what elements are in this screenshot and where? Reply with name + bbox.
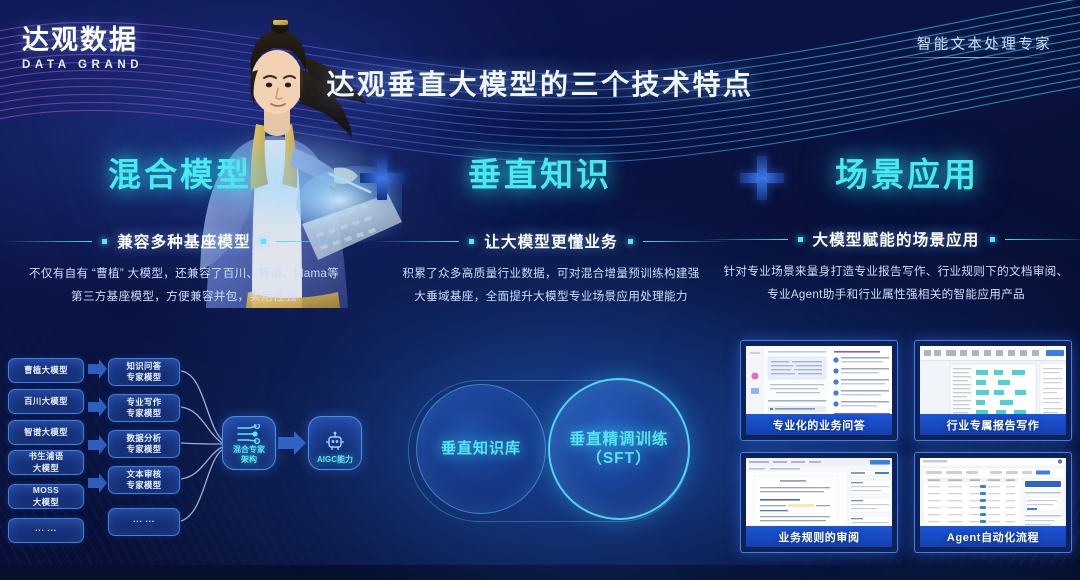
base-model-chip[interactable]: ··· ··· <box>8 518 84 543</box>
use-case-card-label: 行业专属报告写作 <box>920 414 1066 435</box>
heading-dot-right-1 <box>261 239 266 244</box>
feature-headline-2: 垂直知识 <box>468 148 612 196</box>
base-model-chip[interactable]: 书生浦语大模型 <box>8 450 84 475</box>
heading-rule-right-1 <box>276 241 364 242</box>
section-body-line-2b: 大垂域基座，全面提升大模型专业场景应用处理能力 <box>386 286 716 309</box>
model-pipeline-diagram: 曹植大模型 百川大模型 智谱大模型 书生浦语大模型 MOSS大模型 ··· ··… <box>8 358 368 528</box>
pipeline-node-moe-architecture[interactable]: 混合专家架构 <box>222 416 276 470</box>
section-heading-row-1: 兼容多种基座模型 <box>8 230 360 252</box>
expert-model-chip[interactable]: 文本审核专家模型 <box>108 466 180 494</box>
use-case-card[interactable]: Agent自动化流程 <box>914 452 1072 553</box>
section-body-2: 积累了众多高质量行业数据，可对混合增量预训练构建强 大垂域基座，全面提升大模型专… <box>386 263 716 308</box>
core-capability-circles: 垂直知识库 垂直精调训练（SFT） <box>398 378 696 528</box>
section-heading-1: 兼容多种基座模型 <box>117 230 251 252</box>
section-body-line-2a: 积累了众多高质量行业数据，可对混合增量预训练构建强 <box>386 263 716 286</box>
robot-head-icon <box>324 431 346 453</box>
section-body-line-1b: 第三方基座模型，方便兼容并包，实用性强 <box>8 286 360 309</box>
feature-headline-1: 混合模型 <box>108 148 252 196</box>
heading-dot-left-3 <box>798 237 803 242</box>
pipeline-node-label: AIGC能力 <box>317 455 353 465</box>
pipeline-node-label: 混合专家架构 <box>233 445 265 465</box>
section-body-line-3b: 专业Agent助手和行业属性强相关的智能应用产品 <box>712 284 1080 307</box>
network-nodes-icon <box>236 424 262 444</box>
plus-separator-1 <box>360 156 404 200</box>
heading-rule-left-2 <box>371 241 459 242</box>
brand-tagline: 智能文本处理专家 <box>917 33 1052 54</box>
plus-separator-2 <box>740 156 784 200</box>
use-case-card[interactable]: 专业化的业务问答 <box>740 340 898 441</box>
use-case-card-label: Agent自动化流程 <box>920 526 1066 547</box>
section-body-3: 针对专业场景来量身打造专业报告写作、行业规则下的文档审阅、 专业Agent助手和… <box>712 261 1080 306</box>
feature-headline-row: 混合模型 垂直知识 场景应用 <box>0 148 1080 206</box>
section-heading-row-2: 让大模型更懂业务 <box>386 230 716 252</box>
section-heading-row-3: 大模型赋能的场景应用 <box>712 228 1080 250</box>
heading-dot-left-1 <box>102 239 107 244</box>
circle-vertical-knowledge-base[interactable]: 垂直知识库 <box>416 384 546 514</box>
use-case-card[interactable]: 行业专属报告写作 <box>914 340 1072 441</box>
use-case-card[interactable]: 业务规则的审阅 <box>740 452 898 553</box>
use-case-card-label: 业务规则的审阅 <box>746 526 892 547</box>
section-heading-3: 大模型赋能的场景应用 <box>813 228 980 250</box>
feature-section-1: 兼容多种基座模型 不仅有自有 “曹植” 大模型，还兼容了百川、智谱、Llama等… <box>8 230 360 308</box>
heading-dot-left-2 <box>469 239 474 244</box>
arrow-between-nodes-icon <box>278 430 310 458</box>
section-heading-2: 让大模型更懂业务 <box>484 230 618 252</box>
feature-section-3: 大模型赋能的场景应用 针对专业场景来量身打造专业报告写作、行业规则下的文档审阅、… <box>712 228 1080 306</box>
section-body-line-1a: 不仅有自有 “曹植” 大模型，还兼容了百川、智谱、Llama等 <box>8 263 360 286</box>
expert-model-chip[interactable]: ··· ··· <box>108 508 180 536</box>
arrow-cluster-icon <box>86 358 108 528</box>
base-model-chip[interactable]: 智谱大模型 <box>8 420 84 445</box>
expert-model-chip[interactable]: 数据分析专家模型 <box>108 430 180 458</box>
section-body-line-3a: 针对专业场景来量身打造专业报告写作、行业规则下的文档审阅、 <box>712 261 1080 284</box>
base-model-chip[interactable]: MOSS大模型 <box>8 484 84 509</box>
feature-headline-3: 场景应用 <box>835 148 979 196</box>
feature-section-2: 让大模型更懂业务 积累了众多高质量行业数据，可对混合增量预训练构建强 大垂域基座… <box>386 230 716 308</box>
pipeline-node-aigc[interactable]: AIGC能力 <box>308 416 362 470</box>
expert-model-chip[interactable]: 专业写作专家模型 <box>108 394 180 422</box>
heading-rule-left-3 <box>700 239 788 240</box>
use-case-card-label: 专业化的业务问答 <box>746 414 892 435</box>
expert-model-chip[interactable]: 知识问答专家模型 <box>108 358 180 386</box>
heading-dot-right-3 <box>990 237 995 242</box>
heading-dot-right-2 <box>628 239 633 244</box>
circle-vertical-sft-training[interactable]: 垂直精调训练（SFT） <box>548 378 690 520</box>
section-body-1: 不仅有自有 “曹植” 大模型，还兼容了百川、智谱、Llama等 第三方基座模型，… <box>8 263 360 308</box>
base-model-chip[interactable]: 百川大模型 <box>8 389 84 414</box>
heading-rule-right-3 <box>1005 239 1080 240</box>
tagline-underline <box>884 57 1052 58</box>
logo-text-cn: 达观数据 <box>22 26 143 56</box>
heading-rule-left-1 <box>4 241 92 242</box>
page-title: 达观垂直大模型的三个技术特点 <box>0 63 1080 103</box>
use-case-card-grid: 专业化的业务问答 <box>740 340 1072 558</box>
base-model-chip[interactable]: 曹植大模型 <box>8 358 84 383</box>
